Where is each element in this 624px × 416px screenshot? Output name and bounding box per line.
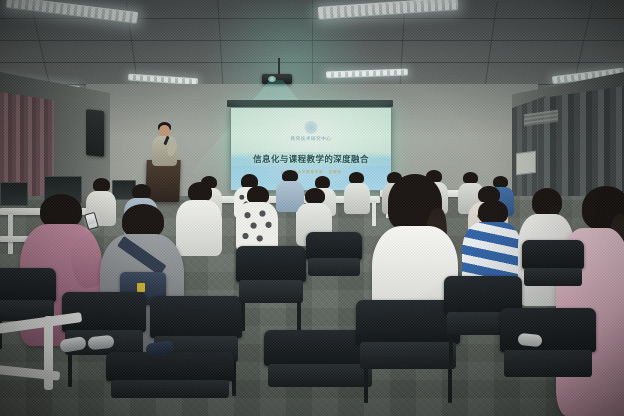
chair <box>500 308 596 412</box>
audience-member <box>236 186 278 252</box>
audience-member <box>344 172 370 214</box>
ceiling-lamp <box>6 0 138 24</box>
slide-title: 信息化与课程教学的深度融合 <box>231 153 391 165</box>
chair <box>306 232 362 298</box>
wall-speaker <box>86 109 104 157</box>
chair <box>106 352 234 416</box>
institution-logo-icon <box>305 121 318 134</box>
screen-housing <box>227 100 393 107</box>
table-leg <box>8 214 13 254</box>
ceiling-projector-icon <box>262 74 292 84</box>
chair <box>522 240 584 310</box>
slide-logo-text: 教育技术研究中心 <box>291 136 332 142</box>
chair <box>236 246 306 332</box>
seminar-room-photo: 教育技术研究中心 信息化与课程教学的深度融合 北京师范大学教育学部 · 张教授 <box>0 0 624 416</box>
presenter <box>150 122 178 170</box>
shoe <box>517 333 542 347</box>
wall-notice <box>516 151 536 175</box>
